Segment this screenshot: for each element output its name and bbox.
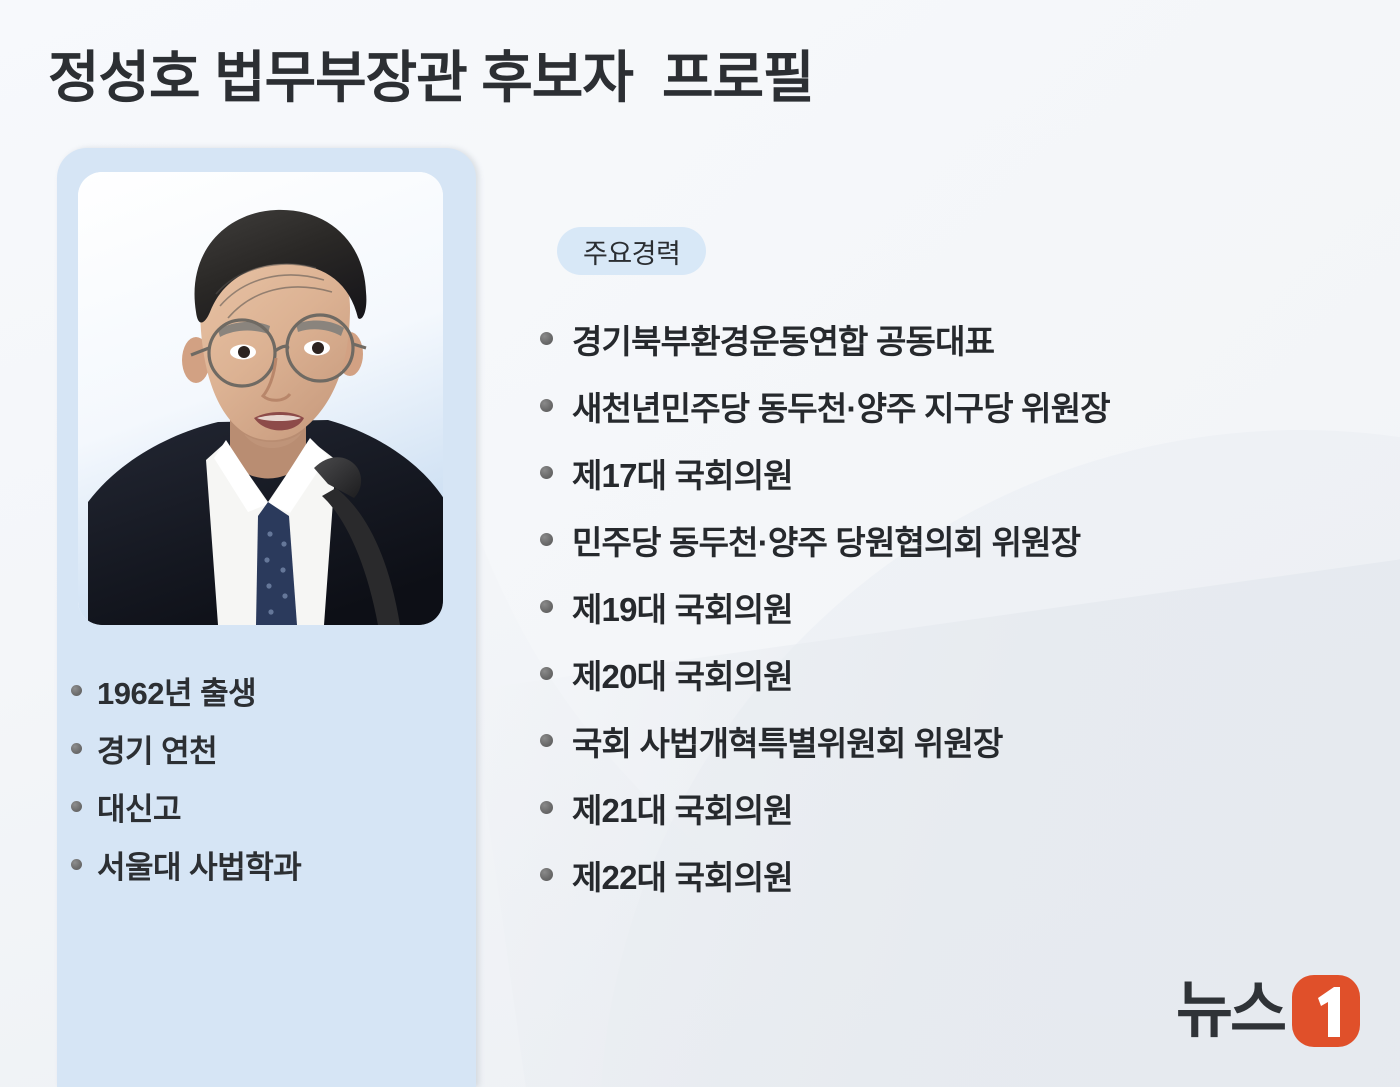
profile-bullet-label: 서울대 사법학과 — [97, 842, 301, 887]
logo-numeral-mark — [1288, 973, 1364, 1049]
page-title: 정성호 법무부장관 후보자 프로필 — [48, 33, 814, 114]
profile-card: 1962년 출생 경기 연천 대신고 서울대 사법학과 — [57, 148, 476, 1087]
news1-logo: 뉴스 — [1176, 975, 1364, 1047]
career-item-label: 새천년민주당 동두천·양주 지구당 위원장 — [572, 382, 1110, 430]
career-item-label: 민주당 동두천·양주 당원협의회 위원장 — [572, 516, 1080, 564]
profile-bullet-label: 경기 연천 — [97, 726, 217, 771]
list-item: 경기북부환경운동연합 공동대표 — [540, 305, 1360, 372]
list-item: 대신고 — [71, 777, 471, 835]
list-item: 제21대 국회의원 — [540, 774, 1360, 841]
bullet-dot-icon — [540, 734, 553, 747]
profile-photo — [78, 172, 443, 625]
career-item-label: 제17대 국회의원 — [572, 449, 793, 497]
bullet-dot-icon — [540, 533, 553, 546]
list-item: 제20대 국회의원 — [540, 640, 1360, 707]
profile-photo-image — [78, 172, 443, 625]
career-item-label: 제21대 국회의원 — [572, 784, 793, 832]
list-item: 새천년민주당 동두천·양주 지구당 위원장 — [540, 372, 1360, 439]
career-item-label: 국회 사법개혁특별위원회 위원장 — [572, 717, 1003, 765]
bullet-dot-icon — [540, 868, 553, 881]
list-item: 제17대 국회의원 — [540, 439, 1360, 506]
bullet-dot-icon — [71, 685, 82, 696]
bullet-dot-icon — [71, 801, 82, 812]
logo-wordmark: 뉴스 — [1176, 980, 1284, 1042]
bullet-dot-icon — [540, 667, 553, 680]
list-item: 민주당 동두천·양주 당원협의회 위원장 — [540, 506, 1360, 573]
career-section-badge: 주요경력 — [557, 227, 706, 275]
list-item: 제19대 국회의원 — [540, 573, 1360, 640]
profile-bullet-label: 대신고 — [97, 784, 181, 829]
bullet-dot-icon — [540, 801, 553, 814]
list-item: 1962년 출생 — [71, 661, 471, 719]
bullet-dot-icon — [540, 466, 553, 479]
bullet-dot-icon — [540, 332, 553, 345]
profile-bullet-list: 1962년 출생 경기 연천 대신고 서울대 사법학과 — [71, 661, 471, 893]
bullet-dot-icon — [540, 600, 553, 613]
bullet-dot-icon — [540, 399, 553, 412]
list-item: 제22대 국회의원 — [540, 841, 1360, 908]
infographic-root: 정성호 법무부장관 후보자 프로필 — [0, 0, 1400, 1087]
list-item: 서울대 사법학과 — [71, 835, 471, 893]
profile-bullet-label: 1962년 출생 — [97, 668, 256, 713]
career-item-label: 제20대 국회의원 — [572, 650, 793, 698]
career-item-label: 제22대 국회의원 — [572, 851, 793, 899]
list-item: 경기 연천 — [71, 719, 471, 777]
career-badge-label: 주요경력 — [583, 232, 680, 271]
bullet-dot-icon — [71, 859, 82, 870]
career-item-label: 경기북부환경운동연합 공동대표 — [572, 315, 994, 363]
logo-numeral-icon — [1288, 973, 1364, 1049]
career-list: 경기북부환경운동연합 공동대표 새천년민주당 동두천·양주 지구당 위원장 제1… — [540, 305, 1360, 908]
bullet-dot-icon — [71, 743, 82, 754]
career-item-label: 제19대 국회의원 — [572, 583, 793, 631]
list-item: 국회 사법개혁특별위원회 위원장 — [540, 707, 1360, 774]
